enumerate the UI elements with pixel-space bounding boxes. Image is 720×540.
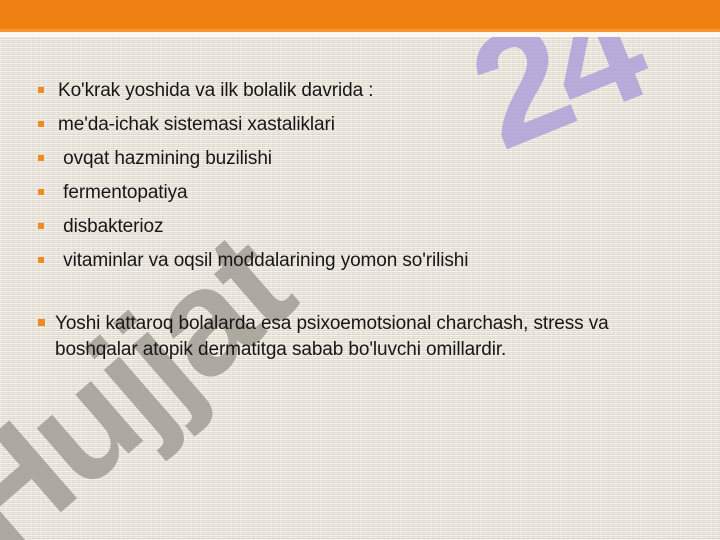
slide-content: Ko'krak yoshida va ilk bolalik davrida :… [0, 0, 720, 540]
list-item-label: disbakterioz [58, 215, 698, 238]
paragraph-block: Yoshi kattaroq bolalarda esa psixoemotsi… [38, 311, 678, 363]
square-bullet-icon [38, 319, 45, 326]
list-item-label: Ko'krak yoshida va ilk bolalik davrida : [58, 79, 698, 102]
square-bullet-icon [38, 155, 44, 161]
top-banner-cream-strip [0, 32, 720, 37]
list-item-label: vitaminlar va oqsil moddalarining yomon … [58, 249, 698, 272]
list-item: Ko'krak yoshida va ilk bolalik davrida : [38, 79, 698, 102]
square-bullet-icon [38, 189, 44, 195]
square-bullet-icon [38, 121, 44, 127]
presentation-slide: Hujjat 24 Ko'krak yoshida va ilk bolalik… [0, 0, 720, 540]
paragraph-label: Yoshi kattaroq bolalarda esa psixoemotsi… [55, 311, 671, 363]
square-bullet-icon [38, 257, 44, 263]
list-item: ovqat hazmining buzilishi [38, 147, 698, 170]
list-item: disbakterioz [38, 215, 698, 238]
list-item: me'da-ichak sistemasi xastaliklari [38, 113, 698, 136]
list-item-label: me'da-ichak sistemasi xastaliklari [58, 113, 698, 136]
top-orange-banner [0, 0, 720, 29]
list-item: Yoshi kattaroq bolalarda esa psixoemotsi… [38, 311, 678, 363]
list-item-label: fermentopatiya [58, 181, 698, 204]
bullet-list: Ko'krak yoshida va ilk bolalik davrida :… [38, 79, 698, 283]
square-bullet-icon [38, 223, 44, 229]
list-item-label: ovqat hazmining buzilishi [58, 147, 698, 170]
list-item: fermentopatiya [38, 181, 698, 204]
square-bullet-icon [38, 87, 44, 93]
list-item: vitaminlar va oqsil moddalarining yomon … [38, 249, 698, 272]
